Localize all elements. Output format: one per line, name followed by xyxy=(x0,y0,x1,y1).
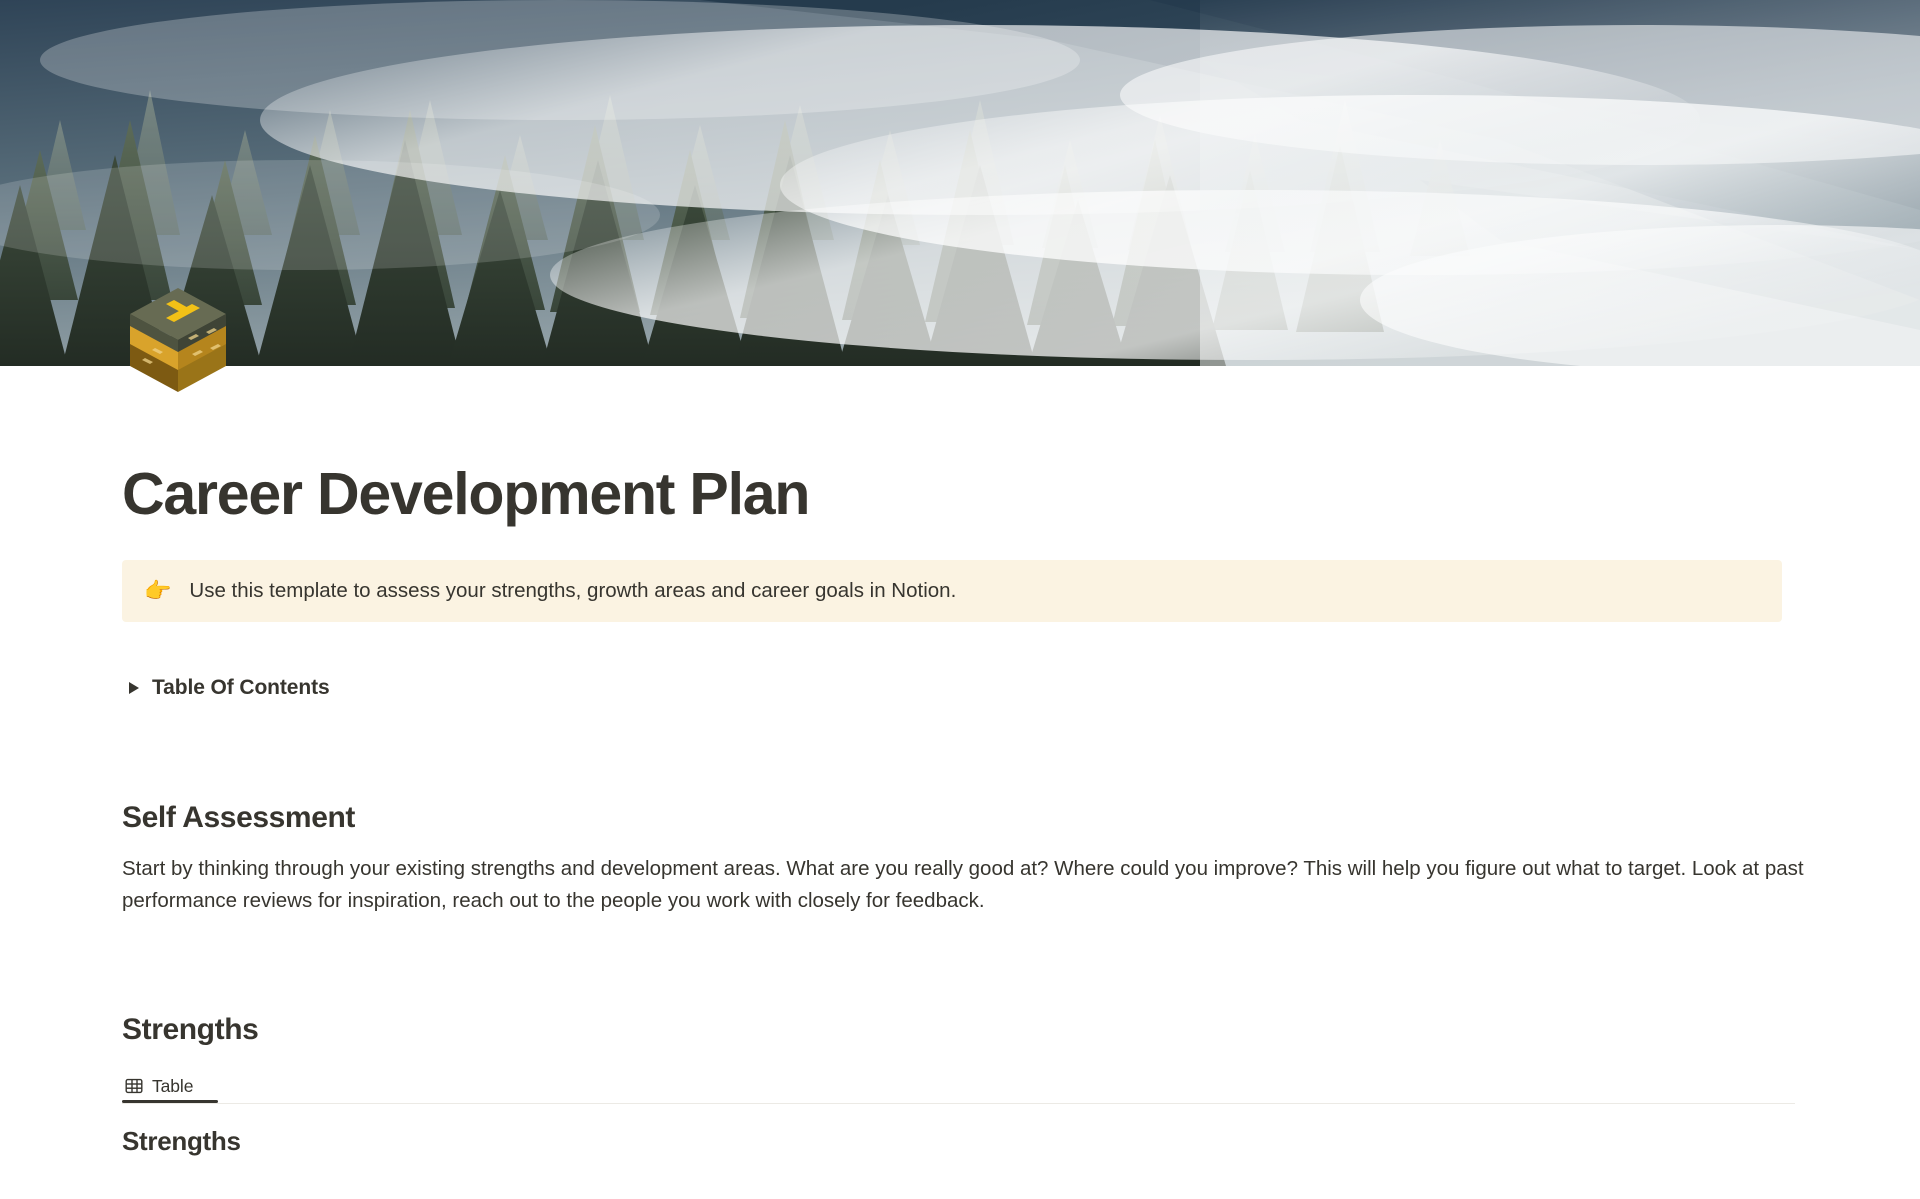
heading-self-assessment[interactable]: Self Assessment xyxy=(122,801,1782,835)
callout-text: Use this template to assess your strengt… xyxy=(189,576,956,606)
table-grid-icon xyxy=(124,1076,144,1096)
strengths-database-block: Table Strengths xyxy=(122,1065,1795,1157)
callout-block[interactable]: 👉 Use this template to assess your stren… xyxy=(122,560,1782,622)
page-icon[interactable] xyxy=(122,280,234,392)
toggle-table-of-contents[interactable]: Table Of Contents xyxy=(122,672,1782,704)
heading-strengths[interactable]: Strengths xyxy=(122,1013,1782,1047)
pointing-right-hand-emoji: 👉 xyxy=(144,580,171,602)
paragraph-self-assessment[interactable]: Start by thinking through your existing … xyxy=(122,853,1812,917)
database-tabs-divider xyxy=(122,1103,1795,1104)
page-content: Career Development Plan 👉 Use this templ… xyxy=(0,366,1920,1157)
active-tab-underline xyxy=(122,1100,218,1103)
page-title[interactable]: Career Development Plan xyxy=(122,462,1782,527)
cover-image[interactable] xyxy=(0,0,1920,366)
toggle-label: Table Of Contents xyxy=(152,676,330,700)
database-view-tabs: Table xyxy=(122,1065,1795,1103)
tab-table-label: Table xyxy=(152,1076,193,1097)
isometric-block-icon xyxy=(122,280,234,392)
notion-page: Career Development Plan 👉 Use this templ… xyxy=(0,0,1920,1199)
forest-mist-cover-photo xyxy=(0,0,1920,366)
tab-table[interactable]: Table xyxy=(122,1069,205,1103)
collapsed-triangle-icon[interactable] xyxy=(122,676,146,700)
database-title[interactable]: Strengths xyxy=(122,1126,1795,1157)
